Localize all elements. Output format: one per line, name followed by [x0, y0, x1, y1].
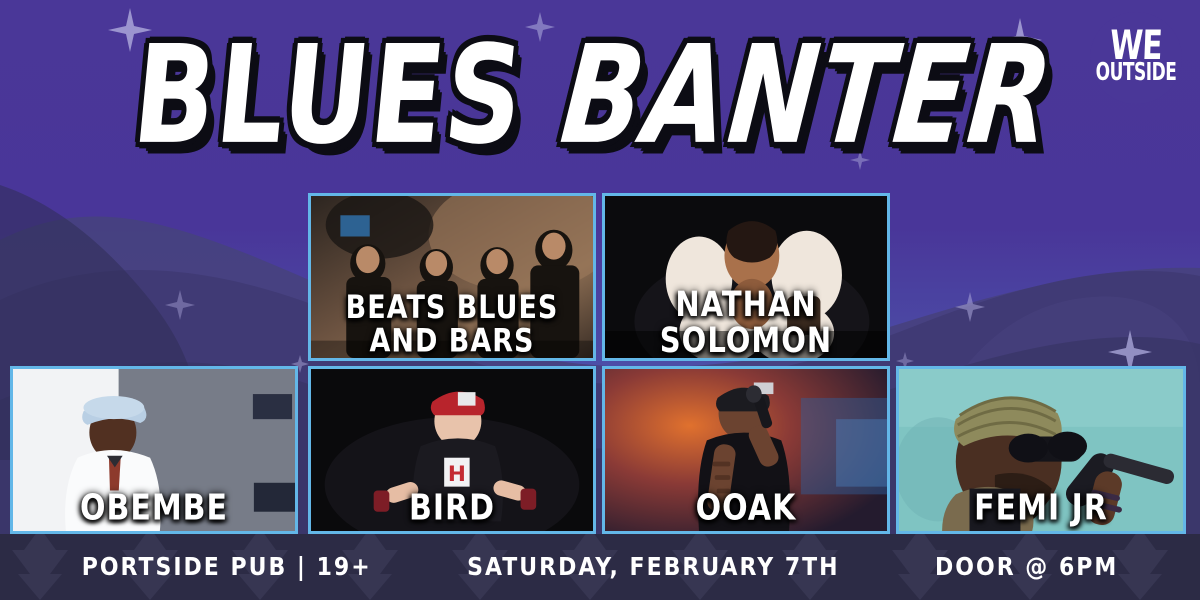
artist-caption: NATHAN SOLOMON	[605, 287, 887, 358]
title-text: BLUES BANTER	[128, 28, 1059, 164]
event-details-bar: PORTSIDE PUB | 19+ SATURDAY, FEBRUARY 7T…	[0, 534, 1200, 600]
artist-tile-bird: H BIRD	[308, 366, 596, 534]
title-word-2: BANTER	[555, 16, 1060, 173]
artist-caption: OBEMBE	[13, 491, 295, 528]
artist-caption: BIRD	[311, 491, 593, 528]
event-date: SATURDAY, FEBRUARY 7TH	[467, 553, 840, 582]
event-details-row: PORTSIDE PUB | 19+ SATURDAY, FEBRUARY 7T…	[0, 534, 1200, 600]
artist-tile-nathan-solomon: NATHAN SOLOMON	[602, 193, 890, 361]
artist-caption: BEATS BLUES AND BARS	[311, 291, 593, 357]
artist-caption-line-1: BIRD	[317, 491, 587, 528]
artist-caption-line-1: NATHAN SOLOMON	[611, 287, 881, 358]
artist-caption-line-1: BEATS BLUES	[317, 291, 587, 324]
artist-caption-line-2: AND BARS	[317, 324, 587, 357]
door-time: DOOR @ 6PM	[935, 553, 1118, 582]
artist-caption-line-1: OOAK	[611, 491, 881, 528]
artist-caption-line-1: OBEMBE	[19, 491, 289, 528]
artist-tile-obembe: OBEMBE	[10, 366, 298, 534]
artist-tile-beats-blues-and-bars: BEATS BLUES AND BARS	[308, 193, 596, 361]
venue-info: PORTSIDE PUB | 19+	[82, 553, 372, 582]
artist-caption: OOAK	[605, 491, 887, 528]
artist-caption-line-1: FEMI JR	[905, 491, 1177, 528]
svg-text:H: H	[448, 462, 466, 487]
artist-caption: FEMI JR	[899, 491, 1183, 528]
title-word-1: BLUES	[127, 16, 531, 173]
event-poster: WE OUTSIDE BLUES BANTER	[0, 0, 1200, 600]
poster-title: BLUES BANTER	[0, 28, 1200, 134]
artist-tile-femi-jr: FEMI JR	[896, 366, 1186, 534]
artist-tile-ooak: OOAK	[602, 366, 890, 534]
